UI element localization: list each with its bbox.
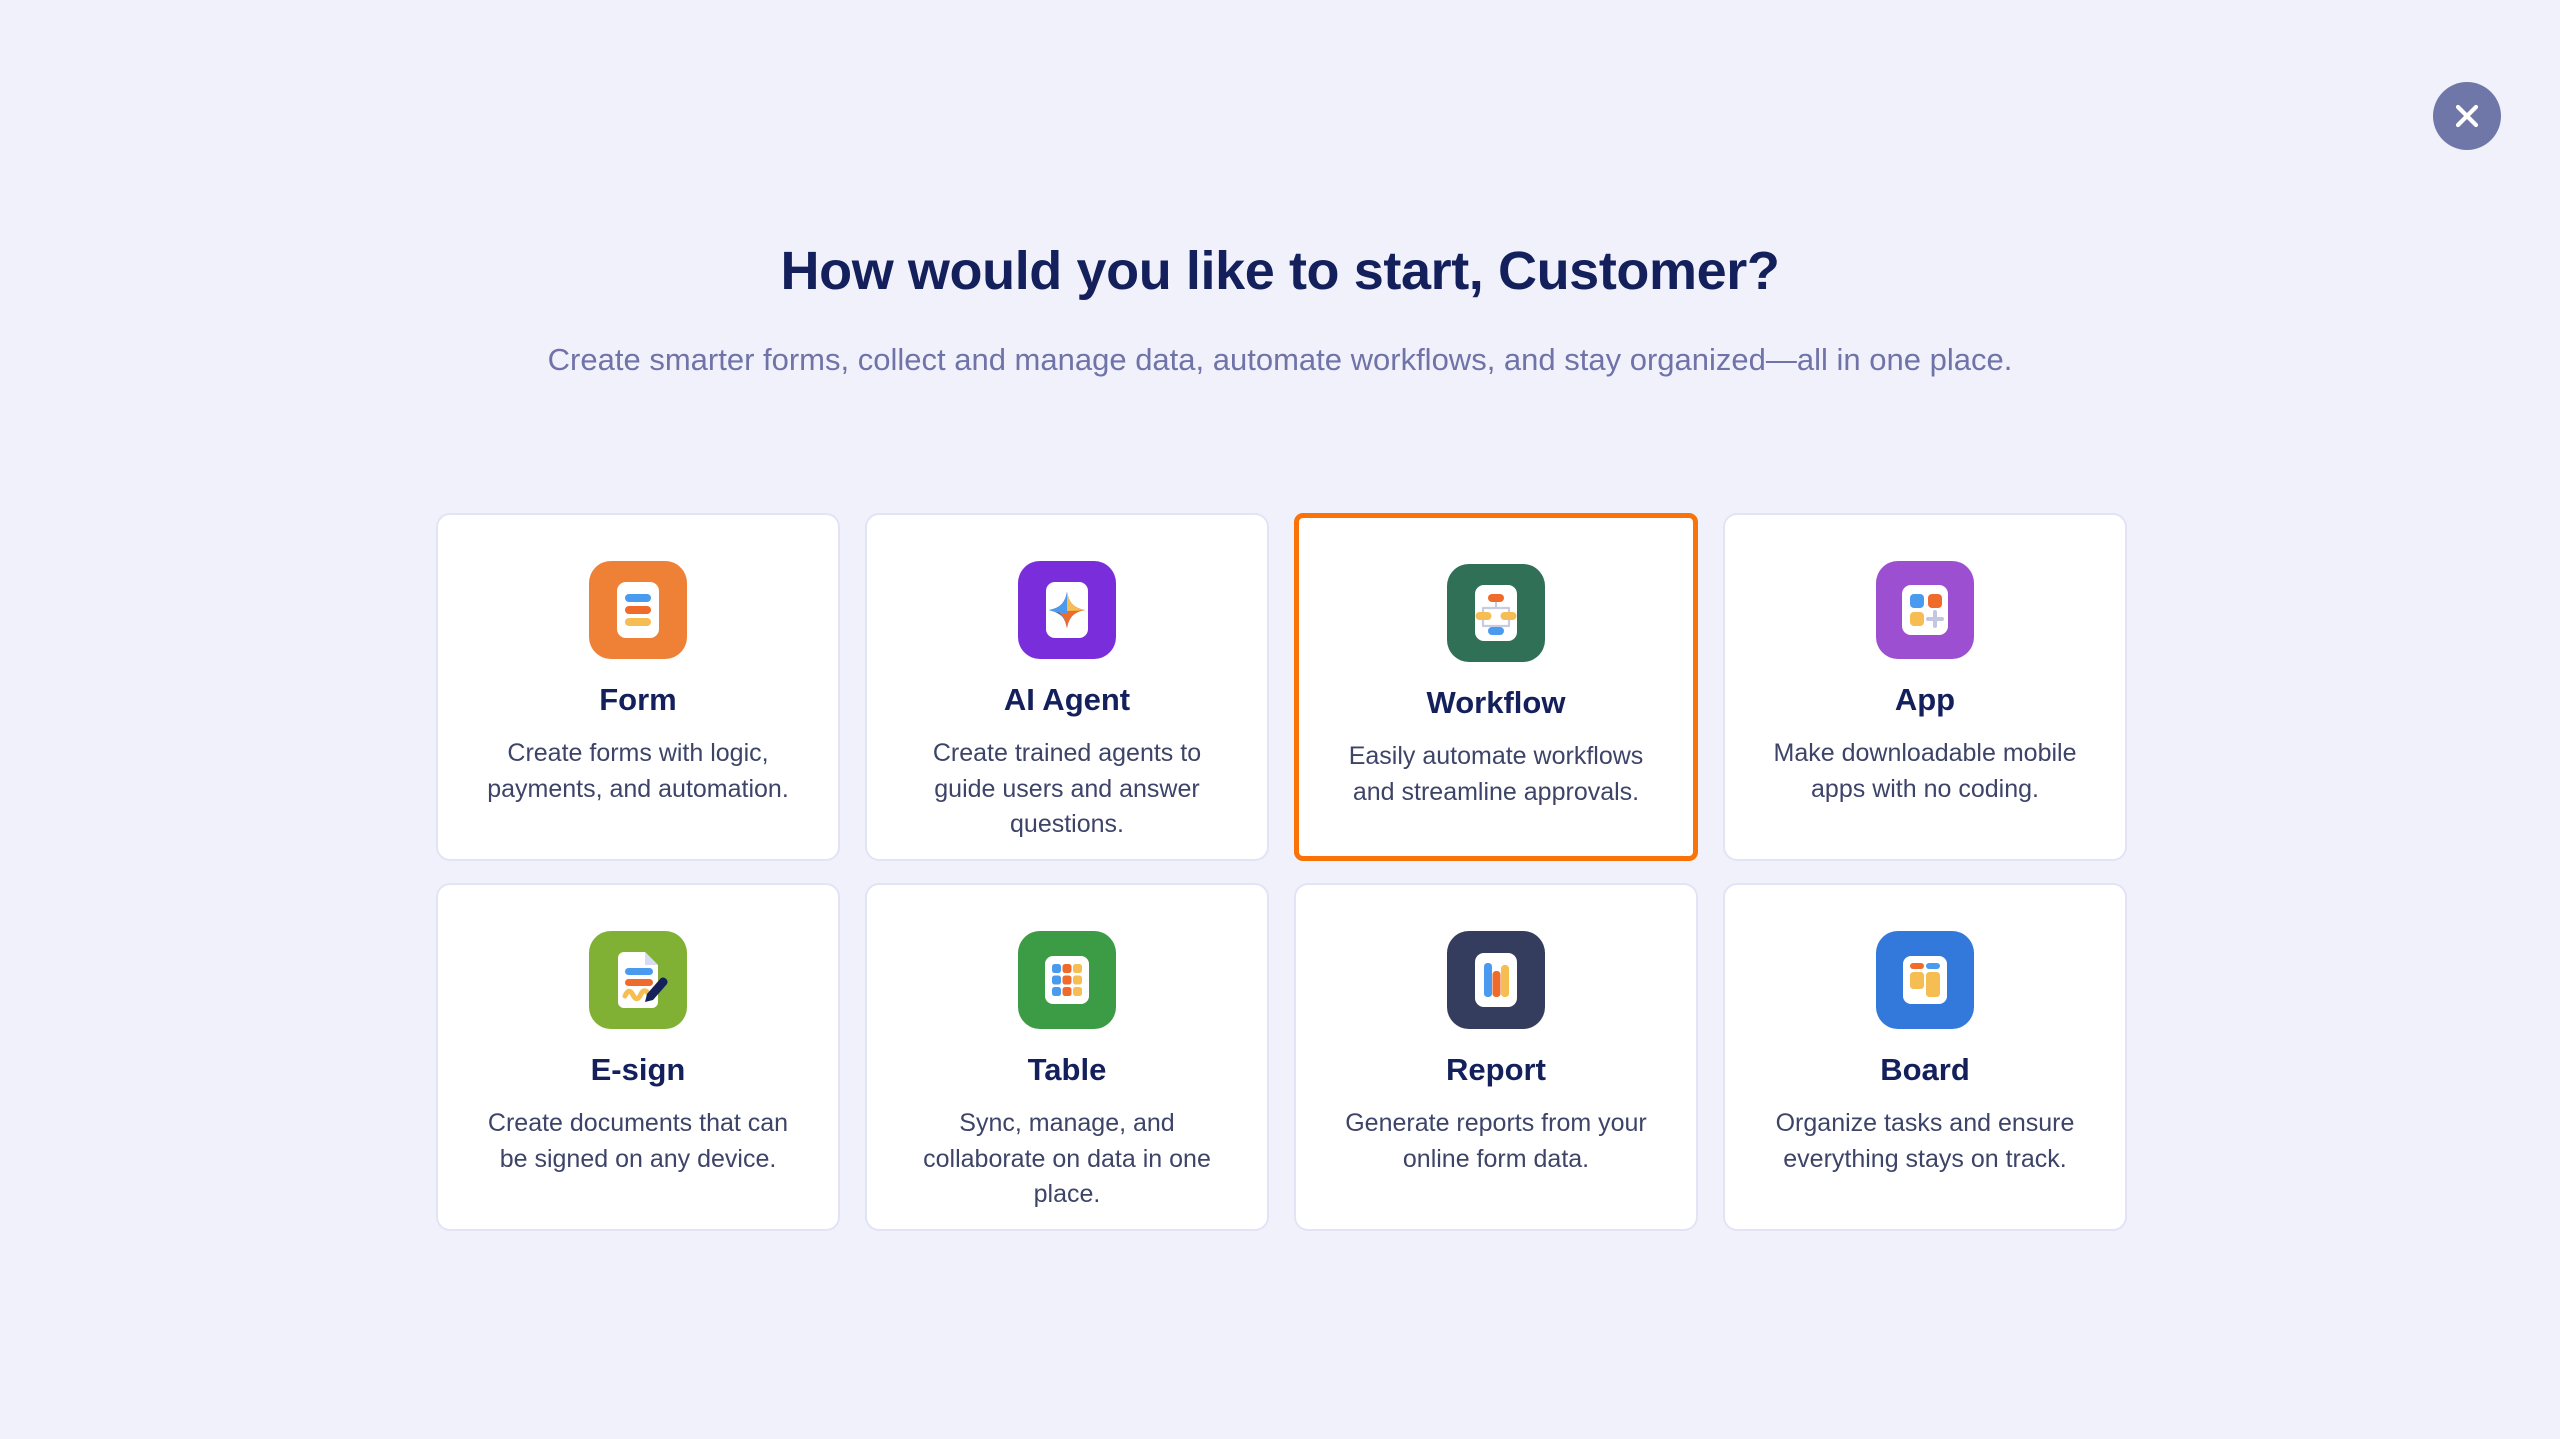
card-board[interactable]: Board Organize tasks and ensure everythi…	[1723, 883, 2127, 1231]
report-bar-chart-icon	[1447, 931, 1545, 1029]
card-e-sign[interactable]: E-sign Create documents that can be sign…	[436, 883, 840, 1231]
card-title: Board	[1880, 1051, 1970, 1088]
card-ai-agent[interactable]: AI Agent Create trained agents to guide …	[865, 513, 1269, 861]
card-description: Sync, manage, and collaborate on data in…	[902, 1106, 1232, 1213]
app-grid-plus-icon	[1876, 561, 1974, 659]
page-title: How would you like to start, Customer?	[0, 240, 2560, 302]
card-form[interactable]: Form Create forms with logic, payments, …	[436, 513, 840, 861]
card-title: App	[1895, 681, 1955, 718]
card-title: Report	[1446, 1051, 1546, 1088]
card-description: Organize tasks and ensure everything sta…	[1760, 1106, 2090, 1177]
card-title: Form	[599, 681, 677, 718]
form-icon	[589, 561, 687, 659]
board-columns-icon	[1876, 931, 1974, 1029]
card-title: E-sign	[591, 1051, 686, 1088]
esign-document-pen-icon	[589, 931, 687, 1029]
table-grid-icon	[1018, 931, 1116, 1029]
card-app[interactable]: App Make downloadable mobile apps with n…	[1723, 513, 2127, 861]
card-description: Create trained agents to guide users and…	[902, 736, 1232, 843]
dialog-header: How would you like to start, Customer? C…	[0, 0, 2560, 380]
card-description: Create forms with logic, payments, and a…	[473, 736, 803, 807]
card-report[interactable]: Report Generate reports from your online…	[1294, 883, 1698, 1231]
workflow-flowchart-icon	[1447, 564, 1545, 662]
card-description: Make downloadable mobile apps with no co…	[1760, 736, 2090, 807]
card-table[interactable]: Table Sync, manage, and collaborate on d…	[865, 883, 1269, 1231]
ai-agent-sparkle-icon	[1018, 561, 1116, 659]
card-workflow[interactable]: Workflow Easily automate workflows and s…	[1294, 513, 1698, 861]
card-title: Workflow	[1427, 684, 1566, 721]
card-title: Table	[1028, 1051, 1107, 1088]
card-description: Generate reports from your online form d…	[1331, 1106, 1661, 1177]
card-title: AI Agent	[1004, 681, 1130, 718]
card-description: Easily automate workflows and streamline…	[1326, 739, 1666, 810]
page-subtitle: Create smarter forms, collect and manage…	[0, 340, 2560, 380]
creation-type-grid: Form Create forms with logic, payments, …	[436, 513, 2128, 1231]
card-description: Create documents that can be signed on a…	[473, 1106, 803, 1177]
